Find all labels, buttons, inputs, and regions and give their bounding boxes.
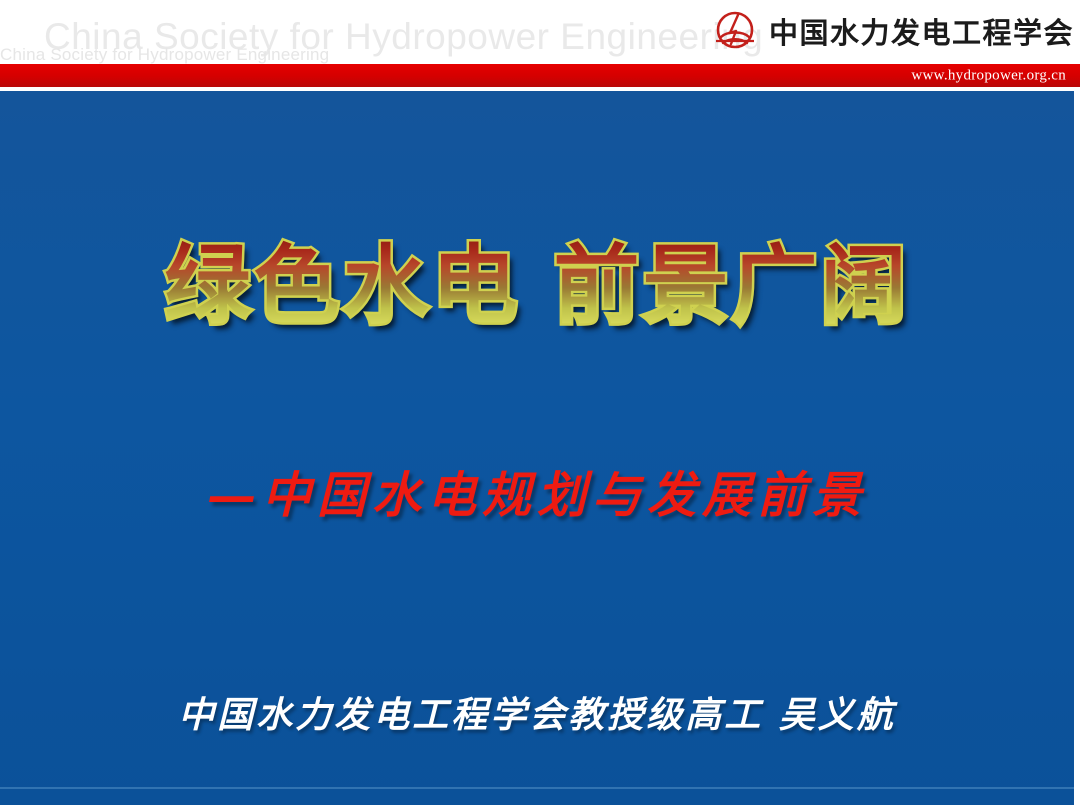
bottom-accent-line (0, 787, 1074, 789)
slide-subtitle: —中国水电规划与发展前景 (0, 456, 1074, 527)
slide-title: 绿色水电 前景广阔 绿色水电 前景广阔 绿色水电 前景广阔 (0, 241, 1074, 331)
presenter-affiliation-name: 中国水力发电工程学会教授级高工 吴义航 (0, 686, 1074, 738)
header-red-band: www.hydropower.org.cn (0, 64, 1080, 87)
slide-title-text: 绿色水电 前景广阔 (165, 236, 910, 336)
organization-logo: 中国水力发电工程学会 (710, 2, 1074, 60)
slide-body: 绿色水电 前景广阔 绿色水电 前景广阔 绿色水电 前景广阔 —中国水电规划与发展… (0, 91, 1074, 805)
presentation-slide: China Society for Hydropower Engineering… (0, 0, 1080, 810)
right-margin (1074, 91, 1080, 805)
organization-name: 中国水力发电工程学会 (769, 10, 1074, 52)
slide-header: China Society for Hydropower Engineering… (0, 0, 1080, 64)
slide-title-layers: 绿色水电 前景广阔 绿色水电 前景广阔 绿色水电 前景广阔 (165, 241, 910, 331)
bottom-margin (0, 805, 1080, 810)
hydropower-society-emblem-icon (710, 6, 760, 56)
watermark-title-small: China Society for Hydropower Engineering (0, 45, 329, 64)
website-url: www.hydropower.org.cn (911, 67, 1066, 84)
